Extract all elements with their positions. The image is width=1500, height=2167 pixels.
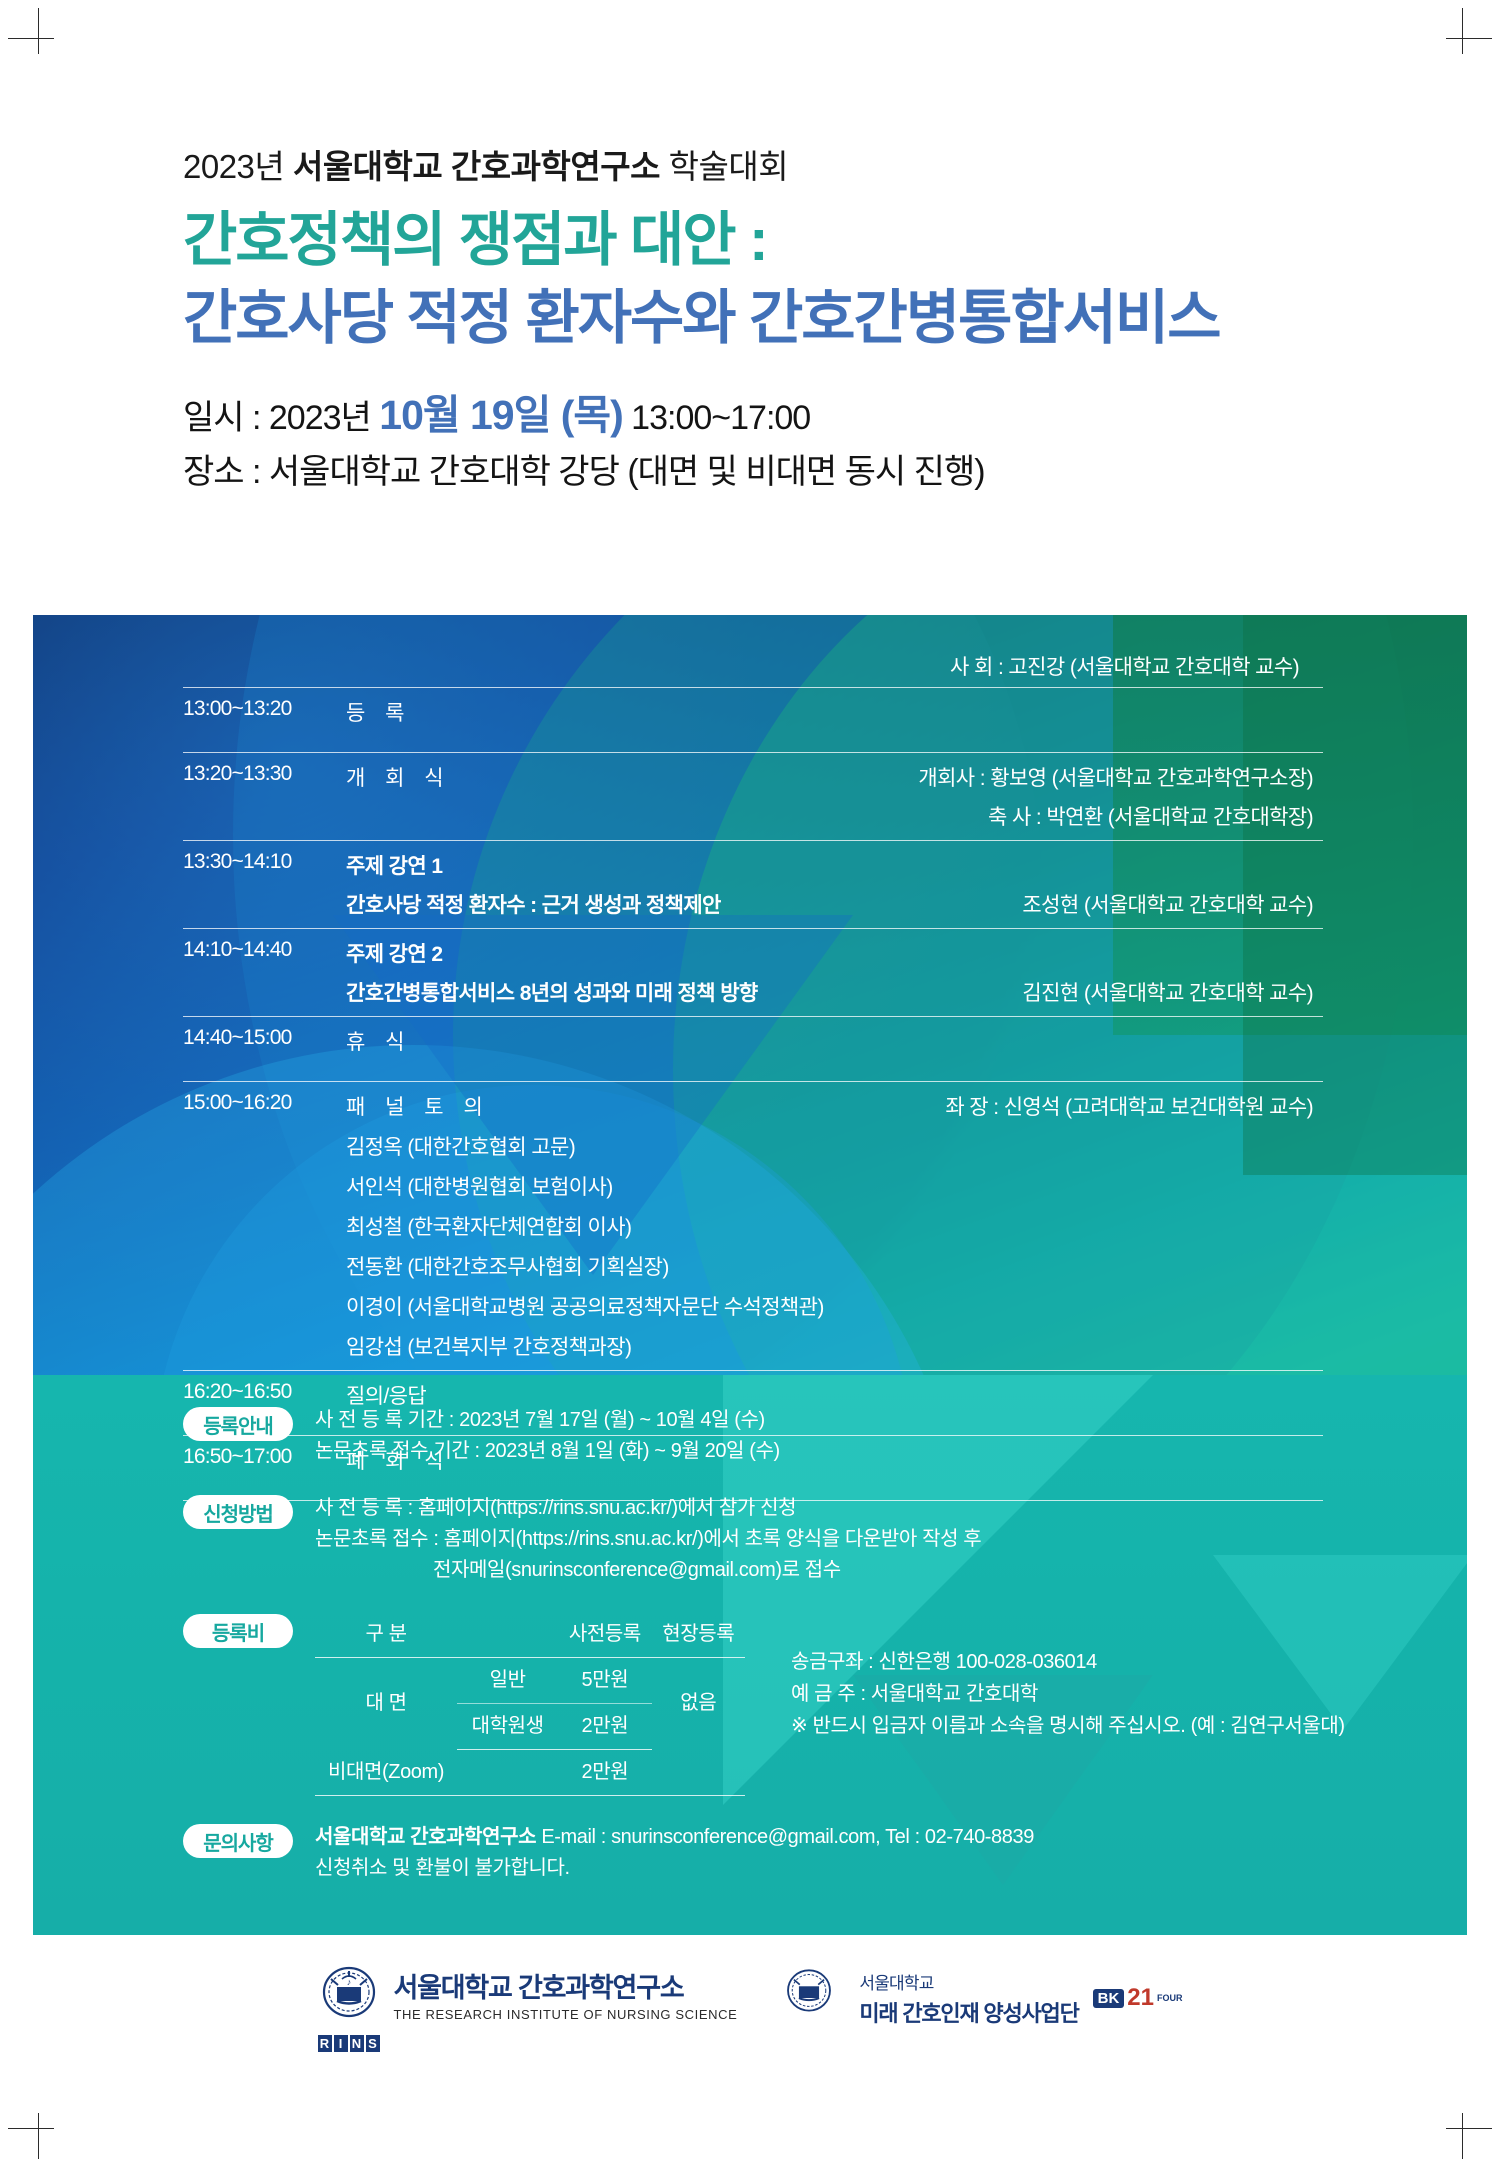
table-row: 비대면(Zoom) 2만원 [315, 1750, 745, 1796]
apply-abstract-line: 논문초록 접수 : 홈페이지(https://rins.snu.ac.kr/)에… [315, 1524, 1363, 1555]
contact-org: 서울대학교 간호과학연구소 [315, 1826, 536, 1848]
row-title: 등 록 [346, 697, 1323, 727]
crop-mark [8, 2128, 54, 2129]
list-item: 이경이 (서울대학교병원 공공의료정책자문단 수석정책관) [346, 1291, 1313, 1321]
registration-period-line: 사 전 등 록 기간 : 2023년 7월 17일 (월) ~ 10월 4일 (… [315, 1405, 1363, 1436]
fee-row-grad-type: 대학원생 [457, 1704, 558, 1750]
abstract-period-value: 2023년 8월 1일 (화) ~ 9월 20일 (수) [485, 1440, 780, 1462]
fee-col-category: 구 분 [315, 1612, 457, 1658]
table-row: 14:40~15:00 휴 식 [183, 1017, 1323, 1081]
crop-mark [8, 38, 54, 39]
bk21-four-text: FOUR [1157, 1993, 1183, 2003]
logo-bk21: 서울대학교 미래 간호인재 양성사업단 BK 21 FOUR [783, 1965, 1182, 2031]
fee-col-pre: 사전등록 [558, 1612, 651, 1658]
registration-info-block: 등록안내 사 전 등 록 기간 : 2023년 7월 17일 (월) ~ 10월… [183, 1405, 1363, 1467]
fee-row-online-pre: 2만원 [558, 1750, 651, 1796]
chair-label: 사 회 : 고진강 (서울대학교 간호대학 교수) [950, 651, 1299, 681]
registration-period-label: 사 전 등 록 기간 : [315, 1409, 459, 1431]
table-row: 14:10~14:40 주제 강연 2 간호간병통합서비스 8년의 성과와 미래… [183, 929, 1323, 1016]
logo-bk21-ko-small: 서울대학교 [859, 1969, 1078, 1994]
registration-period-value: 2023년 7월 17일 (월) ~ 10월 4일 (수) [459, 1409, 765, 1431]
snu-crest-icon: ♪ R I N S [318, 1965, 380, 2031]
logo-rins-en: THE RESEARCH INSTITUTE OF NURSING SCIENC… [394, 2007, 738, 2022]
fee-row-online-label: 비대면(Zoom) [315, 1750, 457, 1796]
fee-table: 구 분 사전등록 현장등록 대 면 일반 5만원 없음 [315, 1612, 745, 1796]
rins-letter: R [318, 2035, 332, 2052]
list-item: 서인석 (대한병원협회 보험이사) [346, 1171, 1313, 1201]
row-time: 13:20~13:30 [183, 762, 346, 786]
rins-letter: S [366, 2035, 380, 2052]
table-row: 13:20~13:30 개 회 식 개회사 : 황보영 (서울대학교 간호과학연… [183, 753, 1323, 840]
fee-table-header-row: 구 분 사전등록 현장등록 [315, 1612, 745, 1658]
bk21-21-text: 21 [1127, 1984, 1154, 2012]
fee-row-online-blank [457, 1750, 558, 1796]
row-congratulatory-remarks: 축 사 : 박연환 (서울대학교 간호대학장) [988, 801, 1313, 831]
apply-info-block: 신청방법 사 전 등 록 : 홈페이지(https://rins.snu.ac.… [183, 1493, 1363, 1586]
kicker-prefix: 2023년 [183, 148, 293, 185]
kicker-line: 2023년 서울대학교 간호과학연구소 학술대회 [183, 140, 1363, 188]
date-highlight: 10월 19일 (목) [379, 392, 622, 438]
apply-email-line: 전자메일(snurinsconference@gmail.com)로 접수 [315, 1555, 1363, 1586]
crop-mark [1446, 38, 1492, 39]
table-row: 대 면 일반 5만원 없음 [315, 1658, 745, 1704]
list-item: 김정옥 (대한간호협회 고문) [346, 1131, 1313, 1161]
row-moderator: 좌 장 : 신영석 (고려대학교 보건대학원 교수) [945, 1091, 1313, 1121]
row-time: 16:20~16:50 [183, 1380, 346, 1404]
footer-logos: ♪ R I N S 서울대학교 간호과학연구소 THE RESEARCH INS… [0, 1965, 1500, 2031]
row-speaker: 김진현 (서울대학교 간호대학 교수) [1022, 977, 1313, 1007]
fee-col-blank [457, 1612, 558, 1658]
row-time: 14:10~14:40 [183, 938, 346, 962]
schedule-table: 사 회 : 고진강 (서울대학교 간호대학 교수) 13:00~13:20 등 … [183, 645, 1323, 1501]
list-item: 최성철 (한국환자단체연합회 이사) [346, 1211, 1313, 1241]
poster-canvas: 2023년 서울대학교 간호과학연구소 학술대회 간호정책의 쟁점과 대안 : … [0, 0, 1500, 2167]
fee-row-online-onsite [652, 1750, 745, 1796]
logo-bk21-ko-big: 미래 간호인재 양성사업단 [859, 1996, 1078, 2028]
fee-row-onsite-value: 없음 [652, 1658, 745, 1750]
bank-holder-line: 예 금 주 : 서울대학교 간호대학 [791, 1678, 1345, 1710]
event-date-line: 일시 : 2023년 10월 19일 (목) 13:00~17:00 [183, 385, 1363, 447]
abstract-period-line: 논문초록 접수 기간 : 2023년 8월 1일 (화) ~ 9월 20일 (수… [315, 1436, 1363, 1467]
logo-rins: ♪ R I N S 서울대학교 간호과학연구소 THE RESEARCH INS… [318, 1965, 738, 2031]
info-section: 등록안내 사 전 등 록 기간 : 2023년 7월 17일 (월) ~ 10월… [183, 1405, 1363, 1910]
row-speaker: 조성현 (서울대학교 간호대학 교수) [1022, 889, 1313, 919]
logo-rins-ko: 서울대학교 간호과학연구소 [394, 1974, 738, 2004]
crop-mark [38, 8, 39, 54]
row-title: 개 회 식 [346, 762, 451, 792]
fee-row-general-pre: 5만원 [558, 1658, 651, 1704]
contact-pill: 문의사항 [183, 1824, 293, 1858]
crop-mark [38, 2113, 39, 2159]
refund-policy-line: 신청취소 및 환불이 불가합니다. [315, 1853, 1363, 1884]
event-venue-line: 장소 : 서울대학교 간호대학 강당 (대면 및 비대면 동시 진행) [183, 447, 1363, 498]
apply-preregister-line: 사 전 등 록 : 홈페이지(https://rins.snu.ac.kr/)에… [315, 1493, 1363, 1524]
date-time: 13:00~17:00 [623, 399, 810, 437]
fee-row-general-type: 일반 [457, 1658, 558, 1704]
row-opening-remarks: 개회사 : 황보영 (서울대학교 간호과학연구소장) [918, 762, 1313, 792]
row-title: 패 널 토 의 [346, 1091, 490, 1121]
schedule-chair-row: 사 회 : 고진강 (서울대학교 간호대학 교수) [183, 645, 1323, 687]
fee-row-grad-pre: 2만원 [558, 1704, 651, 1750]
fee-row-offline-label: 대 면 [315, 1658, 457, 1750]
bk21-badge: BK 21 FOUR [1093, 1984, 1183, 2012]
row-time: 15:00~16:20 [183, 1091, 346, 1115]
table-row: 13:00~13:20 등 록 [183, 688, 1323, 752]
bk21-bk-text: BK [1093, 1989, 1125, 2008]
kicker-org: 서울대학교 간호과학연구소 [293, 148, 660, 185]
bank-account-line: 송금구좌 : 신한은행 100-028-036014 [791, 1646, 1345, 1678]
contact-details: E-mail : snurinsconference@gmail.com, Te… [536, 1826, 1034, 1848]
svg-text:♪: ♪ [346, 1977, 351, 1987]
fee-pill: 등록비 [183, 1614, 293, 1648]
row-title: 주제 강연 1 [346, 850, 1313, 880]
row-title: 주제 강연 2 [346, 938, 1313, 968]
program-panel: 사 회 : 고진강 (서울대학교 간호대학 교수) 13:00~13:20 등 … [33, 615, 1467, 1935]
row-time: 14:40~15:00 [183, 1026, 346, 1050]
abstract-period-label: 논문초록 접수 기간 : [315, 1440, 485, 1462]
page-title-line2: 간호사당 적정 환자수와 간호간병통합서비스 [183, 284, 1363, 354]
bank-info: 송금구좌 : 신한은행 100-028-036014 예 금 주 : 서울대학교… [791, 1612, 1345, 1742]
contact-info-block: 문의사항 서울대학교 간호과학연구소 E-mail : snurinsconfe… [183, 1822, 1363, 1884]
row-time: 13:00~13:20 [183, 697, 346, 721]
rins-acronym: R I N S [318, 2035, 380, 2052]
row-title: 휴 식 [346, 1026, 1323, 1056]
row-time: 13:30~14:10 [183, 850, 346, 874]
table-row: 15:00~16:20 패 널 토 의 좌 장 : 신영석 (고려대학교 보건대… [183, 1082, 1323, 1370]
apply-pill: 신청방법 [183, 1495, 293, 1529]
kicker-suffix: 학술대회 [660, 148, 788, 185]
crop-mark [1446, 2128, 1492, 2129]
table-row: 13:30~14:10 주제 강연 1 간호사당 적정 환자수 : 근거 생성과… [183, 841, 1323, 928]
crop-mark [1462, 2113, 1463, 2159]
fee-info-block: 등록비 구 분 사전등록 현장등록 대 면 일 [183, 1612, 1363, 1796]
list-item: 전동환 (대한간호조무사협회 기획실장) [346, 1251, 1313, 1281]
date-label: 일시 : 2023년 [183, 399, 379, 437]
rins-letter: I [334, 2035, 348, 2052]
contact-line: 서울대학교 간호과학연구소 E-mail : snurinsconference… [315, 1822, 1363, 1853]
fee-col-onsite: 현장등록 [652, 1612, 745, 1658]
row-subtitle: 간호간병통합서비스 8년의 성과와 미래 정책 방향 [346, 977, 758, 1007]
row-subtitle: 간호사당 적정 환자수 : 근거 생성과 정책제안 [346, 889, 721, 919]
bank-notice-line: ※ 반드시 입금자 이름과 소속을 명시해 주십시오. (예 : 김연구서울대) [791, 1710, 1345, 1742]
rins-letter: N [350, 2035, 364, 2052]
poster-header: 2023년 서울대학교 간호과학연구소 학술대회 간호정책의 쟁점과 대안 : … [183, 140, 1363, 498]
crop-mark [1462, 8, 1463, 54]
list-item: 임강섭 (보건복지부 간호정책과장) [346, 1331, 1313, 1361]
snu-crest-icon [783, 1965, 845, 2031]
event-meta: 일시 : 2023년 10월 19일 (목) 13:00~17:00 장소 : … [183, 385, 1363, 498]
registration-pill: 등록안내 [183, 1407, 293, 1441]
page-title-line1: 간호정책의 쟁점과 대안 : [183, 206, 1363, 276]
